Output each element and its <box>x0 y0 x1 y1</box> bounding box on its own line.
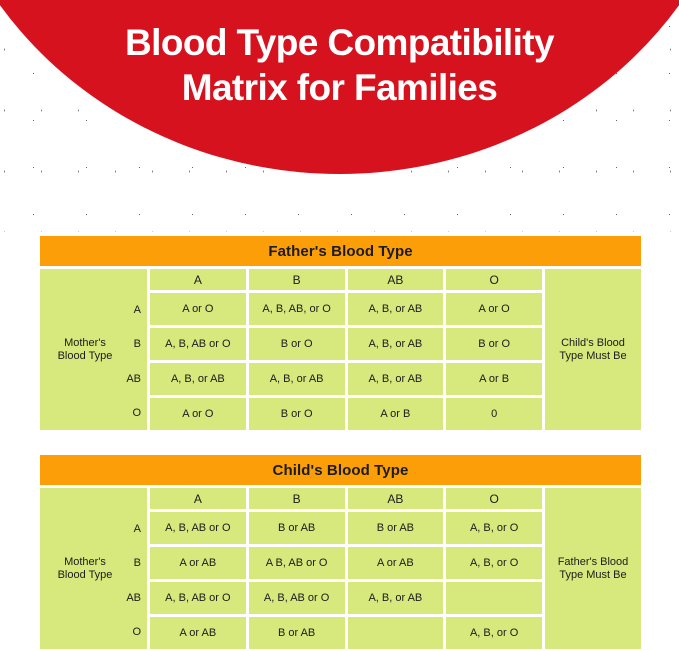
row-label-ab: AB <box>117 362 147 396</box>
table-row: A or O A, B, AB, or O A, B, or AB A or O <box>150 293 542 325</box>
matrix-grid: A B AB O A or O A, B, AB, or O A, B, or … <box>150 269 542 430</box>
cell-a-o: A or O <box>446 293 542 325</box>
cell-ab-o <box>446 582 542 614</box>
column-header-b: B <box>249 488 345 509</box>
header-banner: Blood Type Compatibility Matrix for Fami… <box>0 0 679 232</box>
row-label-stack: A B AB O <box>117 488 147 649</box>
cell-o-a: A or O <box>150 398 246 430</box>
table-row: A, B, or AB A, B, or AB A, B, or AB A or… <box>150 363 542 395</box>
table-row: A or O B or O A or B 0 <box>150 398 542 430</box>
stub-spacer <box>117 269 147 293</box>
column-header-a: A <box>150 269 246 290</box>
cell-a-a: A, B, AB or O <box>150 512 246 544</box>
row-header-column: Mother's Blood Type A B AB O <box>40 269 147 430</box>
cell-o-ab: A or B <box>348 398 444 430</box>
row-label-a: A <box>117 293 147 327</box>
cell-a-b: A, B, AB, or O <box>249 293 345 325</box>
column-header-a: A <box>150 488 246 509</box>
matrix-grid: A B AB O A, B, AB or O B or AB B or AB A… <box>150 488 542 649</box>
cell-b-a: A, B, AB or O <box>150 328 246 360</box>
cell-a-a: A or O <box>150 293 246 325</box>
stub-title-mothers-blood-type: Mother's Blood Type <box>46 556 124 582</box>
cell-b-a: A or AB <box>150 547 246 579</box>
cell-a-b: B or AB <box>249 512 345 544</box>
cell-o-o: A, B, or O <box>446 617 542 649</box>
row-label-b: B <box>117 546 147 580</box>
matrix-table-childs-blood-type: Child's Blood Type Mother's Blood Type A… <box>40 455 641 649</box>
column-header-ab: AB <box>348 269 444 290</box>
cell-o-b: B or AB <box>249 617 345 649</box>
column-header-o: O <box>446 488 542 509</box>
cell-a-ab: A, B, or AB <box>348 293 444 325</box>
cell-ab-b: A, B, AB or O <box>249 582 345 614</box>
matrix-table-fathers-blood-type: Father's Blood Type Mother's Blood Type … <box>40 236 641 430</box>
table-row: A or AB B or AB A, B, or O <box>150 617 542 649</box>
matrix-banner-title: Father's Blood Type <box>40 236 641 266</box>
cell-ab-b: A, B, or AB <box>249 363 345 395</box>
cell-o-a: A or AB <box>150 617 246 649</box>
row-label-o: O <box>117 615 147 649</box>
cell-o-o: 0 <box>446 398 542 430</box>
cell-a-ab: B or AB <box>348 512 444 544</box>
cell-ab-a: A, B, AB or O <box>150 582 246 614</box>
cell-ab-ab: A, B, or AB <box>348 582 444 614</box>
cell-ab-a: A, B, or AB <box>150 363 246 395</box>
column-header-ab: AB <box>348 488 444 509</box>
column-header-row: A B AB O <box>150 488 542 509</box>
row-label-ab: AB <box>117 581 147 615</box>
table-row: A, B, AB or O A, B, AB or O A, B, or AB <box>150 582 542 614</box>
matrix-body: Mother's Blood Type A B AB O A B AB O A,… <box>40 488 641 649</box>
result-note-childs-blood-type: Child's Blood Type Must Be <box>545 269 641 430</box>
cell-ab-o: A or B <box>446 363 542 395</box>
stub-spacer <box>117 488 147 512</box>
row-label-b: B <box>117 327 147 361</box>
matrix-banner-title: Child's Blood Type <box>40 455 641 485</box>
cell-b-ab: A, B, or AB <box>348 328 444 360</box>
row-label-a: A <box>117 512 147 546</box>
cell-b-o: A, B, or O <box>446 547 542 579</box>
column-header-row: A B AB O <box>150 269 542 290</box>
row-label-stack: A B AB O <box>117 269 147 430</box>
result-note-fathers-blood-type: Father's Blood Type Must Be <box>545 488 641 649</box>
matrix-body: Mother's Blood Type A B AB O A B AB O A … <box>40 269 641 430</box>
cell-o-b: B or O <box>249 398 345 430</box>
cell-b-ab: A or AB <box>348 547 444 579</box>
stub-title-mothers-blood-type: Mother's Blood Type <box>46 337 124 363</box>
column-header-b: B <box>249 269 345 290</box>
column-header-o: O <box>446 269 542 290</box>
table-row: A, B, AB or O B or AB B or AB A, B, or O <box>150 512 542 544</box>
table-row: A, B, AB or O B or O A, B, or AB B or O <box>150 328 542 360</box>
page-title: Blood Type Compatibility Matrix for Fami… <box>0 20 679 110</box>
cell-b-o: B or O <box>446 328 542 360</box>
cell-o-ab <box>348 617 444 649</box>
table-row: A or AB A B, AB or O A or AB A, B, or O <box>150 547 542 579</box>
cell-ab-ab: A, B, or AB <box>348 363 444 395</box>
row-label-o: O <box>117 396 147 430</box>
cell-b-b: B or O <box>249 328 345 360</box>
cell-b-b: A B, AB or O <box>249 547 345 579</box>
cell-a-o: A, B, or O <box>446 512 542 544</box>
row-header-column: Mother's Blood Type A B AB O <box>40 488 147 649</box>
